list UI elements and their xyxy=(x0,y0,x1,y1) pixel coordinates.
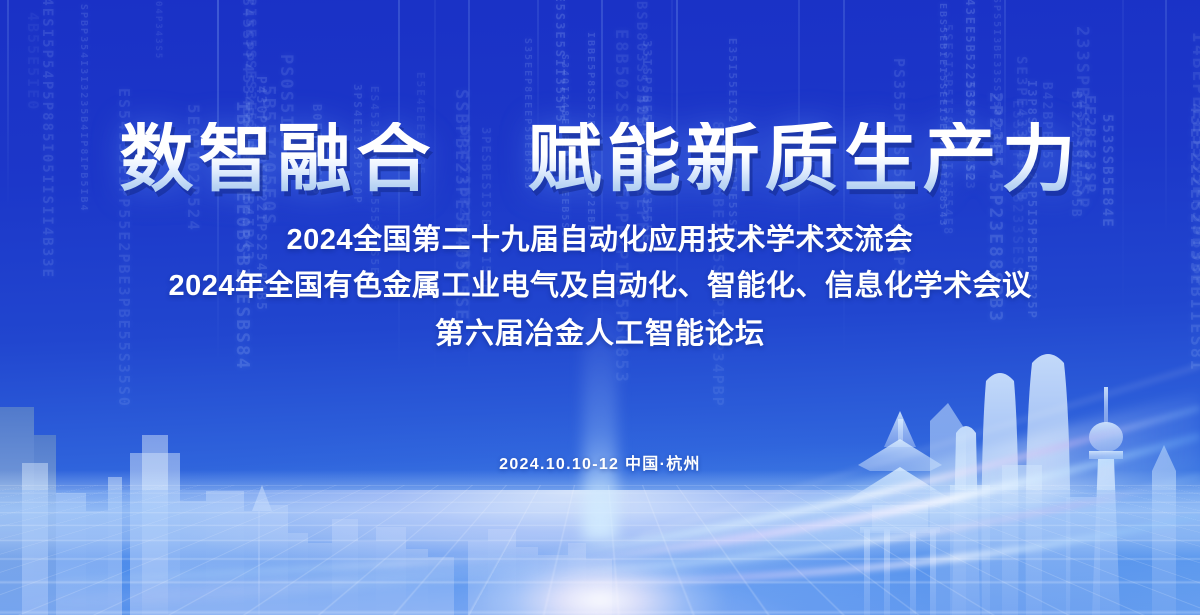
subtitle-line-2: 2024年全国有色金属工业电气及自动化、智能化、信息化学术会议 xyxy=(0,262,1200,304)
conference-banner: 54ESI5P54P5P885I05IISII4B33EBSB803SS5425… xyxy=(0,0,1200,615)
subtitle-line-1: 2024全国第二十九届自动化应用技术学术交流会 xyxy=(0,216,1200,258)
subtitle-line-3: 第六届冶金人工智能论坛 xyxy=(0,310,1200,352)
main-title: 数智融合 赋能新质生产力 xyxy=(0,122,1200,196)
date-location-line: 2024.10.10-12 中国·杭州 xyxy=(0,450,1200,474)
banner-text-content: 数智融合 赋能新质生产力 2024全国第二十九届自动化应用技术学术交流会 202… xyxy=(0,0,1200,615)
